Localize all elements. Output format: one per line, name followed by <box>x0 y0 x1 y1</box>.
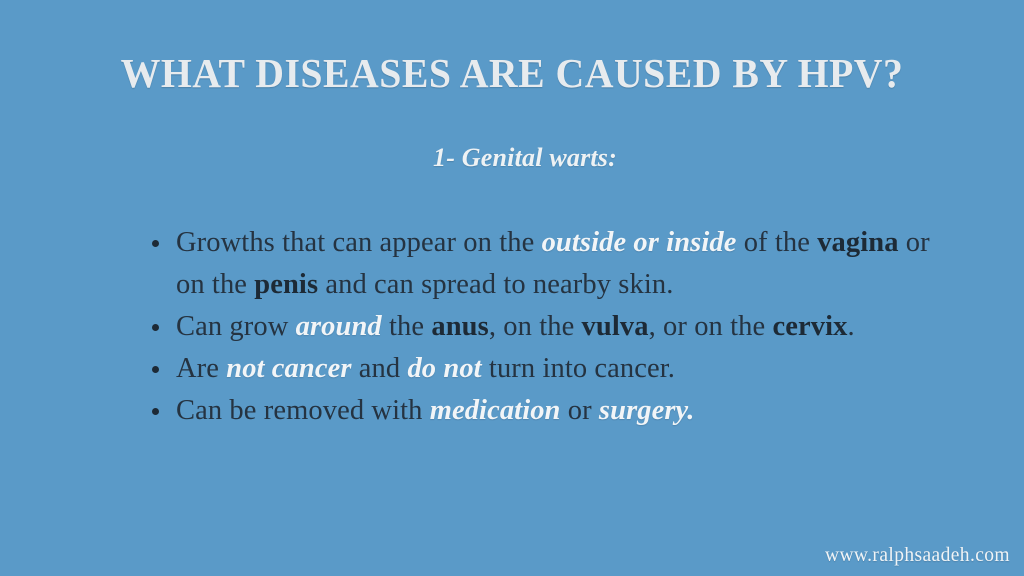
section-subtitle: 1- Genital warts: <box>0 142 1024 174</box>
emphasis-bold: vulva <box>582 311 649 342</box>
text-run: Can grow <box>176 311 296 342</box>
list-item: Growths that can appear on the outside o… <box>150 222 940 306</box>
text-run: turn into cancer. <box>482 353 675 384</box>
emphasis-highlight: not cancer <box>226 353 351 384</box>
emphasis-highlight: do not <box>407 353 481 384</box>
text-run: , on the <box>489 311 582 342</box>
bullet-list: Growths that can appear on the outside o… <box>150 222 940 432</box>
text-run: and <box>352 353 408 384</box>
emphasis-bold: anus <box>431 311 488 342</box>
list-item: Can grow around the anus, on the vulva, … <box>150 306 940 348</box>
emphasis-highlight: medication <box>430 395 561 426</box>
text-run: of the <box>736 227 817 258</box>
emphasis-highlight: surgery. <box>599 395 695 426</box>
bullet-dot-icon <box>152 324 159 331</box>
emphasis-highlight: outside or inside <box>542 227 737 258</box>
emphasis-bold: penis <box>254 269 318 300</box>
emphasis-highlight: around <box>296 311 382 342</box>
list-item-text: Can grow around the anus, on the vulva, … <box>176 311 855 342</box>
list-item: Can be removed with medication or surger… <box>150 390 940 432</box>
list-item-text: Are not cancer and do not turn into canc… <box>176 353 675 384</box>
bullet-dot-icon <box>152 366 159 373</box>
text-run: Are <box>176 353 226 384</box>
text-run: Growths that can appear on the <box>176 227 542 258</box>
text-run: . <box>847 311 854 342</box>
list-item-text: Growths that can appear on the outside o… <box>176 227 930 300</box>
emphasis-bold: cervix <box>772 311 847 342</box>
bullet-dot-icon <box>152 408 159 415</box>
footer-website: www.ralphsaadeh.com <box>825 544 1010 568</box>
text-run: and can spread to nearby skin. <box>318 269 673 300</box>
text-run: Can be removed with <box>176 395 430 426</box>
text-run: , or on the <box>649 311 773 342</box>
list-item-text: Can be removed with medication or surger… <box>176 395 694 426</box>
page-title: WHAT DISEASES ARE CAUSED BY HPV? <box>15 49 1008 97</box>
text-run: or <box>561 395 599 426</box>
text-run: the <box>382 311 432 342</box>
slide-canvas: WHAT DISEASES ARE CAUSED BY HPV? 1- Geni… <box>0 0 1024 576</box>
emphasis-bold: vagina <box>817 227 898 258</box>
list-item: Are not cancer and do not turn into canc… <box>150 348 940 390</box>
bullet-dot-icon <box>152 240 159 247</box>
